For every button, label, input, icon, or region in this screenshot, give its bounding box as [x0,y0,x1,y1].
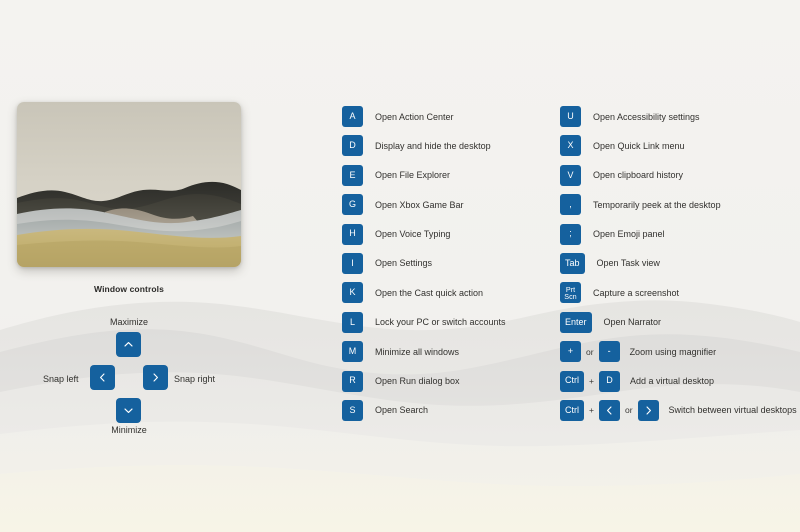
shortcut-description: Open clipboard history [593,170,683,180]
chevron-right-icon [150,372,161,383]
window-control-key-left[interactable] [90,365,115,390]
shortcut-description: Open Voice Typing [375,229,450,239]
shortcut-row: UOpen Accessibility settings [560,106,797,127]
shortcut-description: Lock your PC or switch accounts [375,317,506,327]
shortcut-row: GOpen Xbox Game Bar [342,194,506,215]
shortcut-description: Add a virtual desktop [630,376,714,386]
window-control-key-up[interactable] [116,332,141,357]
shortcut-description: Display and hide the desktop [375,141,491,151]
desktop-wallpaper-preview [17,102,241,267]
shortcut-row: AOpen Action Center [342,106,506,127]
keycap-sym[interactable]: + [560,341,581,362]
chevron-down-icon [123,405,134,416]
shortcut-row: XOpen Quick Link menu [560,135,797,156]
shortcut-description: Capture a screenshot [593,288,679,298]
shortcut-description: Open Quick Link menu [593,141,685,151]
shortcut-row: TabOpen Task view [560,253,797,274]
minimize-label: Minimize [17,425,241,435]
wallpaper-thumbnail-image [17,102,241,267]
maximize-label: Maximize [17,317,241,327]
keycap-chevron-right[interactable] [638,400,659,421]
keycap-g[interactable]: G [342,194,363,215]
shortcut-description: Open Accessibility settings [593,112,700,122]
keycap-m[interactable]: M [342,341,363,362]
keycap-s[interactable]: S [342,400,363,421]
shortcut-row: SOpen Search [342,400,506,421]
shortcut-description: Open Emoji panel [593,229,665,239]
keycap-sym[interactable]: ; [560,224,581,245]
keycap-l[interactable]: L [342,312,363,333]
keycap-d[interactable]: D [342,135,363,156]
shortcut-description: Minimize all windows [375,347,459,357]
keycap-u[interactable]: U [560,106,581,127]
shortcut-description: Open the Cast quick action [375,288,483,298]
key-joiner: + [584,405,599,415]
window-control-key-down[interactable] [116,398,141,423]
snap-left-label: Snap left [43,374,79,384]
keycap-i[interactable]: I [342,253,363,274]
keycap-v[interactable]: V [560,165,581,186]
shortcut-row: +or-Zoom using magnifier [560,341,797,362]
shortcut-description: Open Action Center [375,112,454,122]
chevron-left-icon [604,405,615,416]
keycap-x[interactable]: X [560,135,581,156]
shortcut-description: Temporarily peek at the desktop [593,200,721,210]
shortcut-row: EnterOpen Narrator [560,312,797,333]
shortcut-row: ,Temporarily peek at the desktop [560,194,797,215]
keycap-k[interactable]: K [342,282,363,303]
keycap-enter[interactable]: Enter [560,312,592,333]
shortcut-row: PrtScnCapture a screenshot [560,282,797,303]
shortcut-description: Open Task view [597,258,660,268]
keycap-r[interactable]: R [342,371,363,392]
window-controls-diagram: Window controls Maximize Minimize Snap l… [17,284,241,439]
shortcut-description: Open File Explorer [375,170,450,180]
shortcut-description: Switch between virtual desktops [669,405,797,415]
keycap-prt-scn[interactable]: PrtScn [560,282,581,303]
keycap-ctrl[interactable]: Ctrl [560,400,584,421]
shortcut-description: Zoom using magnifier [630,347,717,357]
keycap-line: Scn [564,293,576,300]
shortcuts-column-left: AOpen Action CenterDDisplay and hide the… [342,106,506,429]
keycap-tab[interactable]: Tab [560,253,585,274]
keycap-sym[interactable]: - [599,341,620,362]
shortcut-description: Open Settings [375,258,432,268]
keycap-chevron-left[interactable] [599,400,620,421]
shortcut-description: Open Run dialog box [375,376,460,386]
shortcut-row: ROpen Run dialog box [342,371,506,392]
shortcut-row: Ctrl+orSwitch between virtual desktops [560,400,797,421]
keycap-e[interactable]: E [342,165,363,186]
shortcut-row: KOpen the Cast quick action [342,282,506,303]
shortcut-description: Open Xbox Game Bar [375,200,464,210]
keycap-d[interactable]: D [599,371,620,392]
keycap-ctrl[interactable]: Ctrl [560,371,584,392]
shortcut-row: MMinimize all windows [342,341,506,362]
keycap-a[interactable]: A [342,106,363,127]
shortcut-row: IOpen Settings [342,253,506,274]
keycap-h[interactable]: H [342,224,363,245]
shortcut-description: Open Search [375,405,428,415]
window-control-key-right[interactable] [143,365,168,390]
shortcut-row: EOpen File Explorer [342,165,506,186]
chevron-up-icon [123,339,134,350]
shortcut-description: Open Narrator [604,317,662,327]
chevron-right-icon [643,405,654,416]
shortcuts-column-right: UOpen Accessibility settingsXOpen Quick … [560,106,797,429]
shortcut-row: DDisplay and hide the desktop [342,135,506,156]
shortcut-row: VOpen clipboard history [560,165,797,186]
keycap-sym[interactable]: , [560,194,581,215]
key-joiner: + [584,376,599,386]
key-joiner: or [620,405,638,415]
chevron-left-icon [97,372,108,383]
window-controls-title: Window controls [17,284,241,294]
shortcut-row: ;Open Emoji panel [560,224,797,245]
shortcut-row: HOpen Voice Typing [342,224,506,245]
shortcut-row: LLock your PC or switch accounts [342,312,506,333]
snap-right-label: Snap right [174,374,215,384]
shortcut-row: Ctrl+DAdd a virtual desktop [560,371,797,392]
key-joiner: or [581,347,599,357]
